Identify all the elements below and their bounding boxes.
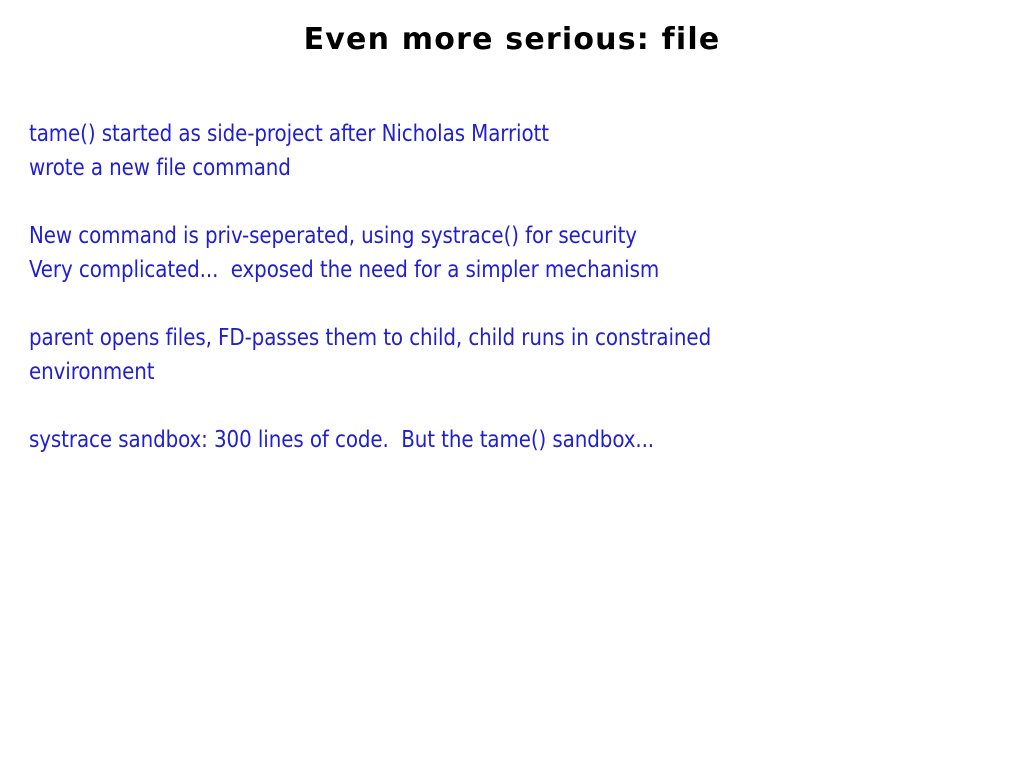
slide-body: tame() started as side-project after Nic…	[29, 116, 997, 456]
body-paragraph-new-command-systrace: New command is priv-seperated, using sys…	[29, 218, 939, 286]
presentation-slide: Even more serious: file tame() started a…	[0, 0, 1024, 768]
body-paragraph-systrace-sandbox-size: systrace sandbox: 300 lines of code. But…	[29, 422, 939, 456]
body-paragraph-fd-passing-design: parent opens files, FD-passes them to ch…	[29, 320, 939, 388]
slide-title: Even more serious: file	[0, 22, 1024, 58]
body-paragraph-tame-origin: tame() started as side-project after Nic…	[29, 116, 939, 184]
